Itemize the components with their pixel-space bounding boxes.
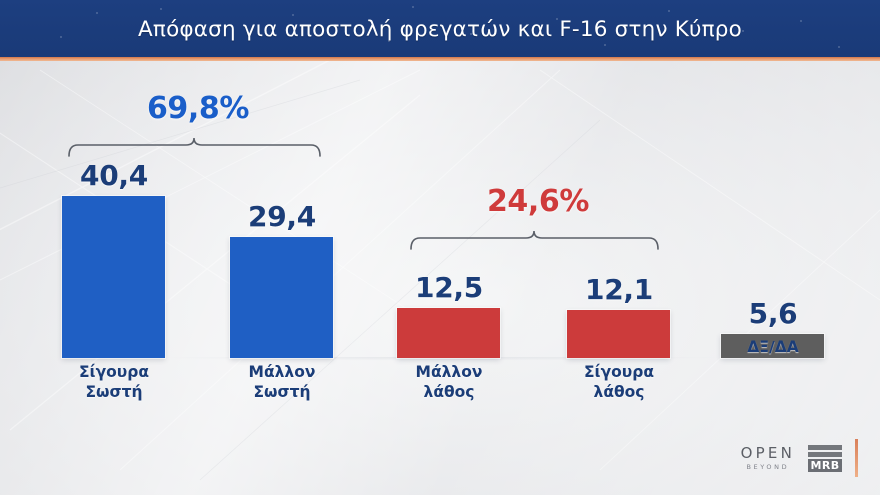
bar-sigoura-sosti[interactable] xyxy=(62,196,165,358)
bar-value-label: 29,4 xyxy=(202,200,362,233)
bar-value-label: 12,5 xyxy=(369,271,529,304)
bar-category-label: ΔΞ/ΔΑ xyxy=(688,338,858,358)
footer-logos: OPEN BEYOND MRB xyxy=(741,439,858,477)
bar-group-mallon-lathos[interactable]: 12,5 Μάλλον λάθος xyxy=(397,58,500,358)
bar-value-label: 5,6 xyxy=(693,297,853,330)
open-logo-sublabel: BEYOND xyxy=(746,464,789,471)
bar-category-line2: Σωστή xyxy=(29,383,199,403)
bar-category-line2: λάθος xyxy=(364,383,534,403)
bar-group-mallon-sosti[interactable]: 29,4 Μάλλον Σωστή xyxy=(230,58,333,358)
bar-category-line2: Σωστή xyxy=(197,383,367,403)
bar-group-sigoura-sosti[interactable]: 40,4 Σίγουρα Σωστή xyxy=(62,58,165,358)
bar-category-label: Μάλλον λάθος xyxy=(364,363,534,403)
mrb-logo-wordmark: MRB xyxy=(808,459,842,472)
bar-group-sigoura-lathos[interactable]: 12,1 Σίγουρα λάθος xyxy=(567,58,670,358)
orange-divider-tick xyxy=(855,439,858,477)
bar-category-line1: Μάλλον xyxy=(364,363,534,383)
chart-screenshot: Απόφαση για αποστολή φρεγατών και F-16 σ… xyxy=(0,0,880,495)
open-logo-wordmark: OPEN xyxy=(741,446,795,461)
page-title: Απόφαση για αποστολή φρεγατών και F-16 σ… xyxy=(138,17,742,42)
bar-mallon-sosti[interactable] xyxy=(230,237,333,358)
open-beyond-logo: OPEN BEYOND xyxy=(741,446,795,471)
mrb-logo: MRB xyxy=(808,445,842,472)
bar-category-line2: λάθος xyxy=(534,383,704,403)
bar-category-line1: Σίγουρα xyxy=(534,363,704,383)
chart-plot-area: 69,8% 24,6% 40,4 Σίγουρα Σωστή 29,4 Μάλλ… xyxy=(0,58,880,495)
bar-category-line1: Μάλλον xyxy=(197,363,367,383)
bar-sigoura-lathos[interactable] xyxy=(567,310,670,358)
bar-category-label: Σίγουρα λάθος xyxy=(534,363,704,403)
bar-mallon-lathos[interactable] xyxy=(397,308,500,358)
mrb-logo-bar-mid xyxy=(808,452,842,457)
bar-value-label: 12,1 xyxy=(539,273,699,306)
bar-value-label: 40,4 xyxy=(34,159,194,192)
bar-category-label: Σίγουρα Σωστή xyxy=(29,363,199,403)
mrb-logo-bar-top xyxy=(808,445,842,450)
bar-category-line1: Σίγουρα xyxy=(29,363,199,383)
header-bar: Απόφαση για αποστολή φρεγατών και F-16 σ… xyxy=(0,0,880,58)
bar-category-line1: ΔΞ/ΔΑ xyxy=(688,338,858,358)
bar-group-dxda[interactable]: 5,6 ΔΞ/ΔΑ xyxy=(721,58,824,358)
bar-category-label: Μάλλον Σωστή xyxy=(197,363,367,403)
